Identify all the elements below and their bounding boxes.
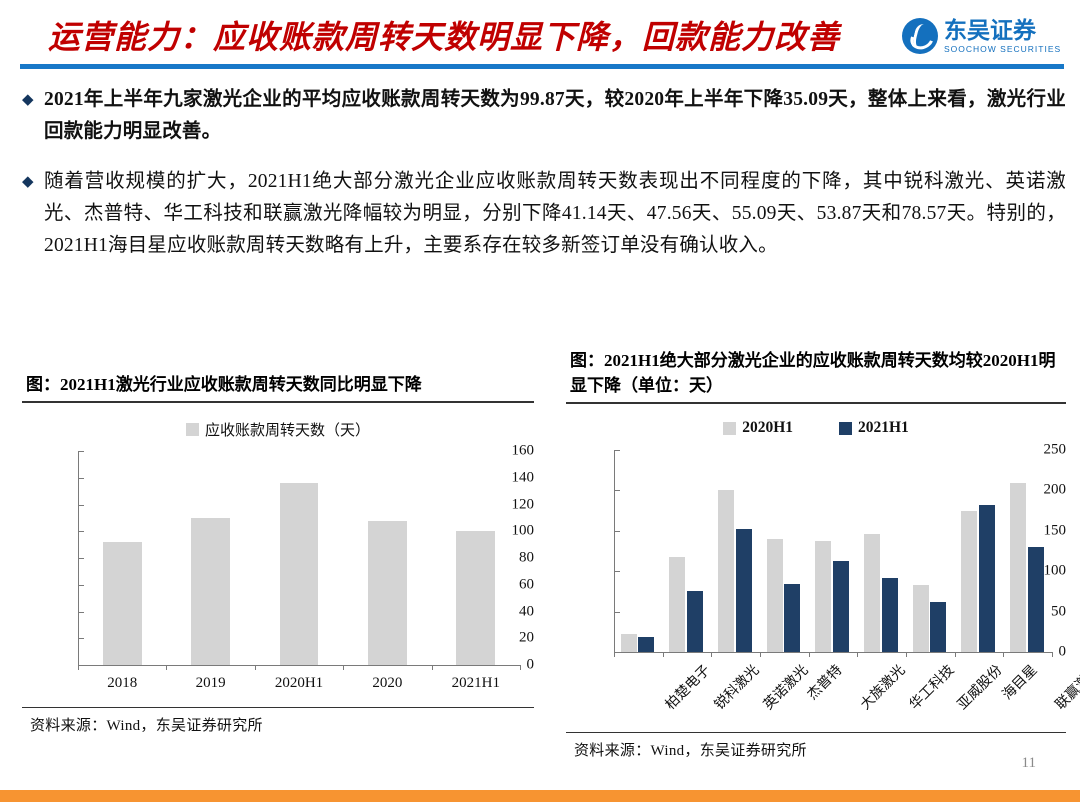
x-axis-tickmark xyxy=(857,652,858,657)
bar-大族激光-2021H1 xyxy=(833,561,849,652)
figure-panel-right: 图：2021H1绝大部分激光企业的应收账款周转天数均较2020H1明显下降（单位… xyxy=(566,348,1066,770)
x-axis-tickmark xyxy=(711,652,712,657)
y-axis-tickmark xyxy=(78,585,84,586)
bar-2019-应收账款周转天数（天） xyxy=(191,518,230,665)
brand-name-en: SOOCHOW SECURITIES xyxy=(944,44,1061,54)
bullet-item: ◆ 2021年上半年九家激光企业的平均应收账款周转天数为99.87天，较2020… xyxy=(20,84,1066,148)
x-axis-tickmark xyxy=(809,652,810,657)
x-axis-tick-label: 2021H1 xyxy=(432,675,520,692)
legend-swatch-icon xyxy=(186,423,199,436)
left-chart-plot: 020406080100120140160201820192020H120202… xyxy=(22,441,534,699)
x-axis-tickmark xyxy=(614,652,615,657)
y-axis-tickmark xyxy=(614,450,620,451)
bar-柏楚电子-2021H1 xyxy=(638,637,654,652)
right-chart-legend: 2020H12021H1 xyxy=(566,416,1066,440)
figure-source-right: 资料来源：Wind，东吴证券研究所 xyxy=(566,733,1066,760)
x-axis-tick-label: 海目星 xyxy=(997,660,1041,704)
brand-swirl-icon xyxy=(902,18,938,54)
y-axis-line xyxy=(614,450,615,652)
x-axis-line xyxy=(614,652,1052,653)
x-axis-tick-label: 2018 xyxy=(78,675,166,692)
x-axis-tickmark xyxy=(955,652,956,657)
bullet-list: ◆ 2021年上半年九家激光企业的平均应收账款周转天数为99.87天，较2020… xyxy=(20,84,1066,280)
bar-华工科技-2021H1 xyxy=(882,578,898,652)
y-axis-tick-label: 120 xyxy=(488,496,534,513)
y-axis-tickmark xyxy=(78,531,84,532)
y-axis-tickmark xyxy=(78,558,84,559)
x-axis-tick-label: 2020H1 xyxy=(255,675,343,692)
soochow-securities-logo: 东吴证券 SOOCHOW SECURITIES xyxy=(902,14,1066,58)
page-title: 运营能力：应收账款周转天数明显下降，回款能力改善 xyxy=(48,12,840,58)
y-axis-tick-label: 250 xyxy=(1028,442,1066,459)
x-axis-tickmark xyxy=(432,665,433,670)
brand-text: 东吴证券 SOOCHOW SECURITIES xyxy=(944,18,1061,53)
x-axis-tickmark xyxy=(520,665,521,670)
brand-name-cn: 东吴证券 xyxy=(944,18,1061,42)
figure-rule-top-right xyxy=(566,402,1066,404)
bullet-text: 2021年上半年九家激光企业的平均应收账款周转天数为99.87天，较2020年上… xyxy=(44,84,1066,148)
right-chart: 2020H12021H1 050100150200250柏楚电子锐科激光英诺激光… xyxy=(566,416,1066,728)
figure-panel-left: 图：2021H1激光行业应收账款周转天数同比明显下降 应收账款周转天数（天） 0… xyxy=(22,372,534,770)
x-axis-tick-label: 联赢激光 xyxy=(1050,660,1080,714)
bar-联赢激光-2021H1 xyxy=(1028,547,1044,652)
x-axis-line xyxy=(78,665,520,666)
diamond-bullet-icon: ◆ xyxy=(20,166,44,198)
bar-杰普特-2020H1 xyxy=(767,539,783,652)
x-axis-tick-label: 锐科激光 xyxy=(709,660,763,714)
bar-海目星-2020H1 xyxy=(961,511,977,652)
figure-caption-left: 图：2021H1激光行业应收账款周转天数同比明显下降 xyxy=(22,372,534,401)
diamond-bullet-icon: ◆ xyxy=(20,84,44,116)
x-axis-tick-label: 大族激光 xyxy=(855,660,909,714)
page-header: 运营能力：应收账款周转天数明显下降，回款能力改善 东吴证券 SOOCHOW SE… xyxy=(0,0,1080,72)
legend-label: 2021H1 xyxy=(858,419,909,437)
left-chart: 应收账款周转天数（天） 0204060801001201401602018201… xyxy=(22,417,534,699)
bar-杰普特-2021H1 xyxy=(784,584,800,652)
bar-2018-应收账款周转天数（天） xyxy=(103,542,142,665)
x-axis-tickmark xyxy=(343,665,344,670)
x-axis-tickmark xyxy=(906,652,907,657)
bar-柏楚电子-2020H1 xyxy=(621,634,637,652)
left-chart-legend: 应收账款周转天数（天） xyxy=(22,417,534,441)
y-axis-tick-label: 200 xyxy=(1028,482,1066,499)
bar-2020H1-应收账款周转天数（天） xyxy=(280,483,319,665)
x-axis-tickmark xyxy=(1052,652,1053,657)
bullet-text: 随着营收规模的扩大，2021H1绝大部分激光企业应收账款周转天数表现出不同程度的… xyxy=(44,166,1066,262)
bar-锐科激光-2021H1 xyxy=(687,591,703,652)
legend-swatch-icon xyxy=(839,422,852,435)
bar-英诺激光-2021H1 xyxy=(736,529,752,652)
x-axis-tickmark xyxy=(78,665,79,670)
x-axis-tickmark xyxy=(1003,652,1004,657)
right-chart-plot: 050100150200250柏楚电子锐科激光英诺激光杰普特大族激光华工科技亚威… xyxy=(566,440,1066,728)
y-axis-tickmark xyxy=(614,490,620,491)
y-axis-tickmark xyxy=(614,531,620,532)
legend-swatch-icon xyxy=(723,422,736,435)
x-axis-tickmark xyxy=(255,665,256,670)
y-axis-tick-label: 150 xyxy=(1028,522,1066,539)
header-divider xyxy=(20,64,1064,69)
y-axis-tickmark xyxy=(78,478,84,479)
x-axis-tick-label: 华工科技 xyxy=(904,660,958,714)
bar-2020-应收账款周转天数（天） xyxy=(368,521,407,665)
legend-label: 应收账款周转天数（天） xyxy=(205,419,370,440)
x-axis-tickmark xyxy=(663,652,664,657)
x-axis-tick-label: 2019 xyxy=(166,675,254,692)
y-axis-tick-label: 160 xyxy=(488,443,534,460)
bar-亚威股份-2020H1 xyxy=(913,585,929,652)
figure-source-left: 资料来源：Wind，东吴证券研究所 xyxy=(22,708,534,735)
x-axis-tickmark xyxy=(760,652,761,657)
bar-亚威股份-2021H1 xyxy=(930,602,946,652)
legend-item: 应收账款周转天数（天） xyxy=(186,419,370,440)
x-axis-tick-label: 柏楚电子 xyxy=(661,660,715,714)
x-axis-tickmark xyxy=(166,665,167,670)
legend-item: 2021H1 xyxy=(839,419,909,437)
figure-rule-top-left xyxy=(22,401,534,403)
y-axis-tick-label: 140 xyxy=(488,469,534,486)
y-axis-tickmark xyxy=(78,612,84,613)
legend-label: 2020H1 xyxy=(742,419,793,437)
y-axis-tickmark xyxy=(614,612,620,613)
bar-锐科激光-2020H1 xyxy=(669,557,685,652)
bar-英诺激光-2020H1 xyxy=(718,490,734,652)
bar-2021H1-应收账款周转天数（天） xyxy=(456,531,495,665)
figure-caption-right: 图：2021H1绝大部分激光企业的应收账款周转天数均较2020H1明显下降（单位… xyxy=(566,348,1066,402)
bar-华工科技-2020H1 xyxy=(864,534,880,652)
bar-海目星-2021H1 xyxy=(979,505,995,652)
legend-item: 2020H1 xyxy=(723,419,793,437)
y-axis-tickmark xyxy=(614,571,620,572)
y-axis-tickmark xyxy=(78,505,84,506)
x-axis-tick-label: 2020 xyxy=(343,675,431,692)
bar-联赢激光-2020H1 xyxy=(1010,483,1026,652)
bullet-item: ◆ 随着营收规模的扩大，2021H1绝大部分激光企业应收账款周转天数表现出不同程… xyxy=(20,166,1066,262)
footer-accent-bar xyxy=(0,790,1080,802)
bar-大族激光-2020H1 xyxy=(815,541,831,653)
y-axis-tickmark xyxy=(78,638,84,639)
page-number: 11 xyxy=(1022,755,1036,772)
y-axis-tickmark xyxy=(78,451,84,452)
x-axis-tick-label: 杰普特 xyxy=(802,660,846,704)
